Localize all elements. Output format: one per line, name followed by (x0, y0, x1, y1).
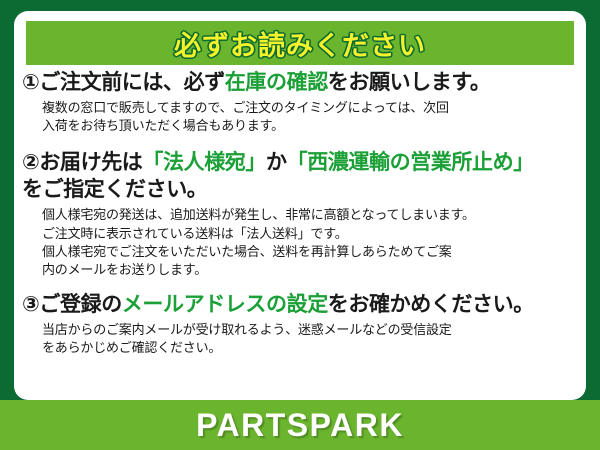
item-3-text-a: ご登録の (39, 293, 121, 316)
title-band: 必ずお読みください (26, 21, 574, 65)
notice-banner: 必ずお読みください ①ご注文前には、必ず在庫の確認をお願いします。 複数の窓口で… (0, 0, 600, 450)
item-1-number: ① (22, 71, 39, 94)
item-1-text-a: ご注文前には、必ず (39, 71, 224, 94)
banner-title: 必ずお読みください (174, 24, 426, 63)
notice-item-2: ②お届け先は「法人様宛」か「西濃運輸の営業所止め」 をご指定ください。 個人様宅… (22, 149, 578, 280)
footer-band: PARTSPARK (0, 400, 600, 450)
item-spacer-2 (22, 282, 578, 291)
item-2-subtext: 個人様宅宛の発送は、追加送料が発生し、非常に高額となってしまいます。 ご注文時に… (42, 206, 578, 280)
item-2-heading-line2: をご指定ください。 (22, 176, 578, 204)
item-2-subline-3: 個人様宅宛でご注文をいただいた場合、送料を再計算しあらためてご案 (42, 243, 578, 261)
notice-item-3: ③ご登録のメールアドレスの設定をお確かめください。 当店からのご案内メールが受け… (22, 291, 578, 358)
item-3-highlight: メールアドレスの設定 (122, 293, 328, 316)
item-2-text-b: か (266, 151, 287, 174)
item-2-subline-1: 個人様宅宛の発送は、追加送料が発生し、非常に高額となってしまいます。 (42, 206, 578, 224)
partspark-logo: PARTSPARK (196, 407, 404, 444)
item-2-number: ② (22, 151, 39, 174)
item-2-highlight-2: 「西濃運輸の営業所止め」 (287, 151, 534, 174)
notice-card: 必ずお読みください ①ご注文前には、必ず在庫の確認をお願いします。 複数の窓口で… (14, 11, 586, 400)
item-3-subline-1: 当店からのご案内メールが受け取れるよう、迷惑メールなどの受信設定 (42, 321, 578, 339)
item-1-text-b: をお願いします。 (328, 71, 491, 94)
item-3-subtext: 当店からのご案内メールが受け取れるよう、迷惑メールなどの受信設定 をあらかじめご… (42, 321, 578, 358)
item-3-number: ③ (22, 293, 39, 316)
item-2-subline-4: 内のメールをお送りします。 (42, 261, 578, 279)
item-3-subline-2: をあらかじめご確認ください。 (42, 339, 578, 357)
item-2-heading-line1: ②お届け先は「法人様宛」か「西濃運輸の営業所止め」 (22, 149, 578, 177)
item-1-subline-1: 複数の窓口で販売してますので、ご注文のタイミングによっては、次回 (42, 99, 578, 117)
item-spacer-1 (22, 138, 578, 149)
notice-item-1: ①ご注文前には、必ず在庫の確認をお願いします。 複数の窓口で販売してますので、ご… (22, 69, 578, 136)
item-3-text-b: をお確かめください。 (328, 293, 534, 316)
item-1-heading: ①ご注文前には、必ず在庫の確認をお願いします。 (22, 69, 578, 97)
item-1-subline-2: 入荷をお待ち頂いただく場合もあります。 (42, 117, 578, 135)
item-3-heading: ③ご登録のメールアドレスの設定をお確かめください。 (22, 291, 578, 319)
item-2-subline-2: ご注文時に表示されている送料は「法人送料」です。 (42, 225, 578, 243)
item-2-highlight-1: 「法人様宛」 (142, 151, 266, 174)
item-1-subtext: 複数の窓口で販売してますので、ご注文のタイミングによっては、次回 入荷をお待ち頂… (42, 99, 578, 136)
item-2-text-a: お届け先は (39, 151, 142, 174)
notice-content: ①ご注文前には、必ず在庫の確認をお願いします。 複数の窓口で販売してますので、ご… (14, 69, 586, 360)
item-1-highlight: 在庫の確認 (225, 71, 328, 94)
